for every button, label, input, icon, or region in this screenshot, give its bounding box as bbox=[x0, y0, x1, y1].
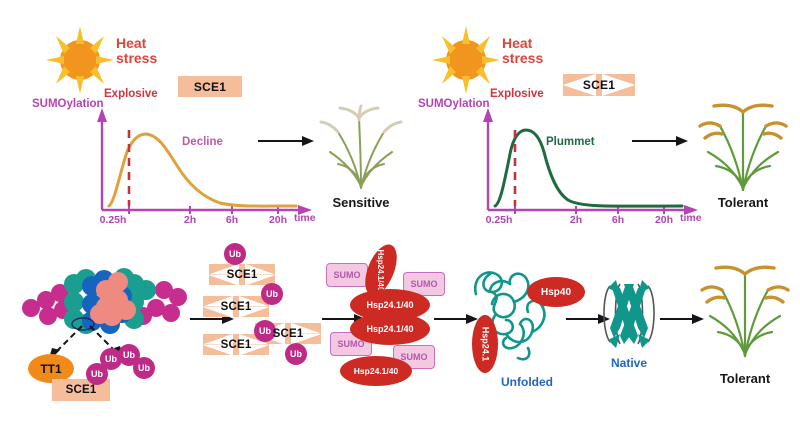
hsp24-40-bottom: Hsp24.1/40 bbox=[340, 356, 412, 386]
explosive-label-right: Explosive bbox=[490, 88, 544, 100]
figure-canvas: Heat stress SCE1 SUMOylation Explosive D… bbox=[0, 0, 800, 427]
outcome-label-tolerant-top: Tolerant bbox=[718, 196, 768, 210]
outcome-label-sensitive: Sensitive bbox=[332, 196, 389, 210]
sun-icon-right bbox=[424, 22, 508, 98]
ub-pathway-4: Ub bbox=[285, 343, 307, 365]
arrow-to-tolerant-top bbox=[632, 134, 690, 148]
x-axis-label-left: time bbox=[294, 213, 316, 224]
ub-pathway-2: Ub bbox=[261, 283, 283, 305]
hsp24-40-lower: Hsp24.1/40 bbox=[350, 313, 430, 345]
tick-label-left-3: 20h bbox=[269, 215, 287, 226]
sumoylation-chart-sensitive bbox=[30, 96, 320, 224]
heat-stress-line1-right: Heat bbox=[502, 36, 543, 51]
tick-label-right-3: 20h bbox=[655, 215, 673, 226]
ub-chain-4: Ub bbox=[133, 357, 155, 379]
tick-label-left-0: 0.25h bbox=[100, 215, 127, 226]
arrow-to-sensitive bbox=[258, 134, 316, 148]
tick-label-right-1: 2h bbox=[570, 215, 582, 226]
plummet-label-right: Plummet bbox=[546, 136, 595, 148]
rice-plant-sensitive-icon bbox=[318, 104, 404, 190]
sce1-box-right: SCE1 bbox=[563, 74, 635, 96]
heat-stress-line2: stress bbox=[116, 51, 157, 66]
rice-plant-tolerant-icon-top bbox=[698, 100, 788, 192]
heat-stress-line2-right: stress bbox=[502, 51, 543, 66]
tick-label-left-2: 6h bbox=[226, 215, 238, 226]
hsp24-1-protein: Hsp24.1 bbox=[472, 315, 498, 373]
sumoylation-chart-tolerant bbox=[416, 96, 706, 224]
explosive-label-left: Explosive bbox=[104, 88, 158, 100]
sce1-box-pathway-2: SCE1 bbox=[203, 296, 269, 317]
outcome-label-tolerant-bottom: Tolerant bbox=[720, 372, 770, 386]
heat-stress-label-left: Heat stress bbox=[116, 36, 157, 66]
y-axis-label-right: SUMOylation bbox=[418, 98, 490, 110]
sce1-box-pathway-1: SCE1 bbox=[209, 264, 275, 285]
sun-icon bbox=[38, 22, 122, 98]
unfolded-state-label: Unfolded bbox=[501, 376, 553, 389]
sce1-box-left: SCE1 bbox=[178, 76, 242, 97]
tick-label-right-2: 6h bbox=[612, 215, 624, 226]
sumo-box-1: SUMO bbox=[326, 263, 368, 287]
hsp40-protein: Hsp40 bbox=[527, 277, 585, 307]
x-axis-label-right: time bbox=[680, 213, 702, 224]
heat-stress-line1: Heat bbox=[116, 36, 157, 51]
native-state-label: Native bbox=[611, 357, 647, 370]
native-protein-icon bbox=[598, 278, 660, 350]
rice-plant-tolerant-icon-bottom bbox=[700, 262, 790, 358]
ub-pathway-1: Ub bbox=[224, 243, 246, 265]
decline-label-left: Decline bbox=[182, 136, 223, 148]
tick-label-right-0: 0.25h bbox=[486, 215, 513, 226]
y-axis-label-left: SUMOylation bbox=[32, 98, 104, 110]
heat-stress-label-right: Heat stress bbox=[502, 36, 543, 66]
tick-label-left-1: 2h bbox=[184, 215, 196, 226]
